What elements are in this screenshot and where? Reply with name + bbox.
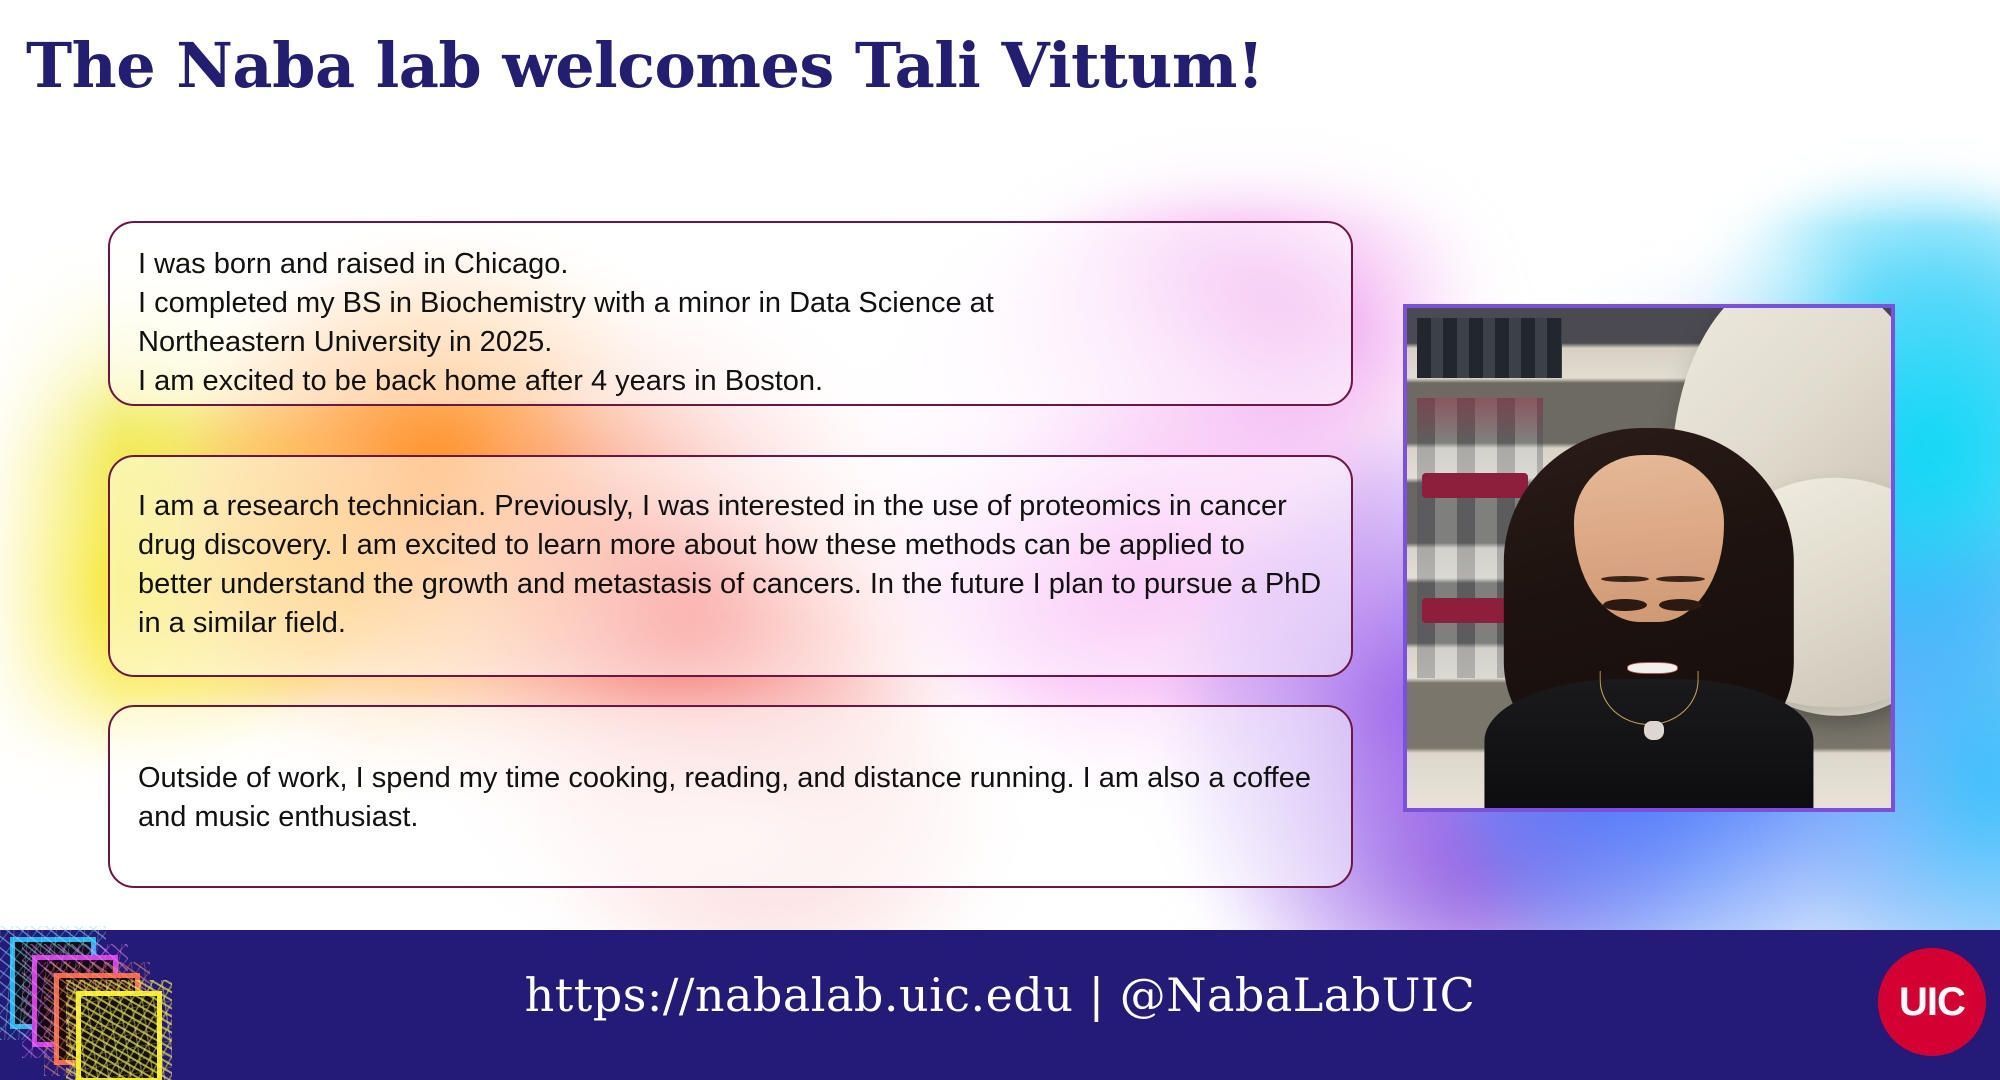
research-text-box: I am a research technician. Previously, … [108, 455, 1353, 677]
subject-face [1574, 455, 1724, 622]
portrait-photo-content [1407, 308, 1891, 808]
lab-logo-fibers-yellow [81, 996, 157, 1078]
uic-logo-text: UIC [1878, 948, 1986, 1056]
photo-subject [1407, 428, 1891, 808]
lab-logo-square-yellow [76, 991, 162, 1080]
background-left-fade [0, 108, 120, 930]
hobbies-text-box: Outside of work, I spend my time cooking… [108, 705, 1353, 888]
footer-bar: https://nabalab.uic.edu | @NabaLabUIC [0, 930, 2000, 1080]
subject-pendant [1644, 721, 1663, 740]
background-text-box: I was born and raised in Chicago. I comp… [108, 221, 1353, 406]
uic-logo-icon: UIC [1878, 948, 1986, 1056]
background-top-fade [0, 108, 2000, 228]
portrait-photo [1403, 304, 1895, 812]
slide-canvas: The Naba lab welcomes Tali Vittum! I was… [0, 0, 2000, 1080]
page-title: The Naba lab welcomes Tali Vittum! [26, 30, 1526, 102]
atrium-upper-floor [1417, 318, 1562, 378]
footer-link-text[interactable]: https://nabalab.uic.edu | @NabaLabUIC [0, 968, 2000, 1022]
naba-lab-logo-icon [8, 935, 173, 1075]
subject-eye-left [1603, 599, 1647, 611]
